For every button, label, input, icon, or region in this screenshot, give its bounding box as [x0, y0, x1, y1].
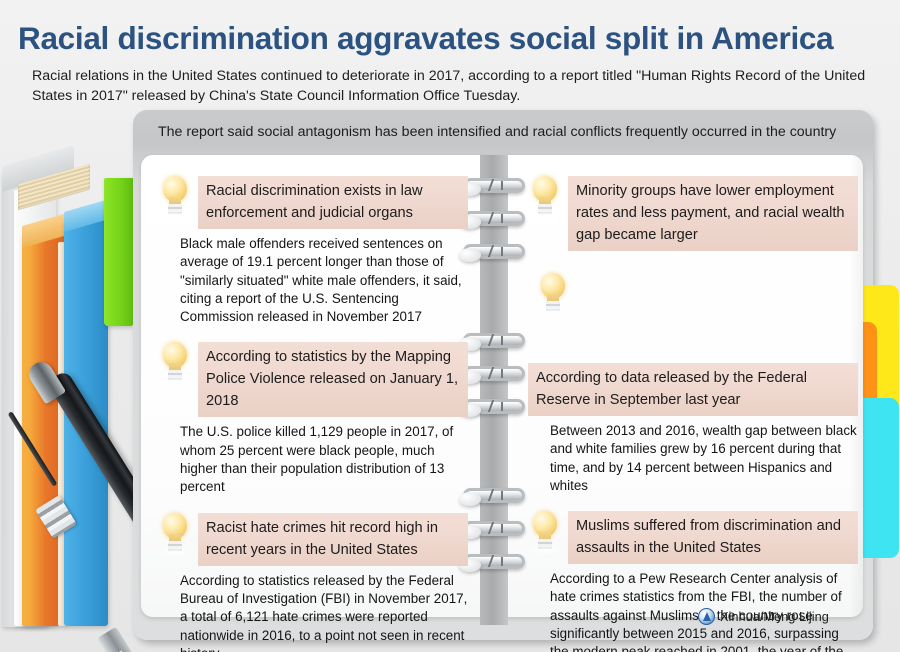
- page-title: Racial discrimination aggravates social …: [18, 20, 888, 57]
- lightbulb-icon: [158, 513, 192, 557]
- list-item: According to statistics by the Mapping P…: [158, 342, 468, 496]
- spiral-ring: [463, 244, 525, 259]
- spiral-ring: [463, 333, 525, 348]
- item-heading: Muslims suffered from discrimination and…: [568, 511, 858, 564]
- item-heading: Racist hate crimes hit record high in re…: [198, 513, 468, 566]
- lightbulb-icon: [158, 176, 192, 220]
- list-item: Minority groups have lower employment ra…: [528, 176, 858, 251]
- list-item: Racial discrimination exists in law enfo…: [158, 176, 468, 326]
- credit-text: Xinhua/Meng Lijing: [720, 609, 829, 624]
- spiral-ring: [463, 521, 525, 536]
- lightbulb-icon: [528, 511, 562, 555]
- list-item: Muslims suffered from discrimination and…: [528, 511, 858, 652]
- spiral-ring: [463, 554, 525, 569]
- lightbulb-icon: [536, 273, 570, 317]
- item-heading: Racial discrimination exists in law enfo…: [198, 176, 468, 229]
- spiral-ring: [463, 178, 525, 193]
- xinhua-logo-icon: [698, 608, 715, 625]
- book-green: [104, 178, 134, 326]
- right-column: Minority groups have lower employment ra…: [528, 176, 858, 652]
- pen-ring: [35, 495, 77, 539]
- spiral-ring: [463, 488, 525, 503]
- item-body: Between 2013 and 2016, wealth gap betwee…: [550, 422, 858, 495]
- list-item: Racist hate crimes hit record high in re…: [158, 513, 468, 652]
- item-heading: According to statistics by the Mapping P…: [198, 342, 468, 417]
- list-item: According to data released by the Federa…: [528, 273, 858, 495]
- item-heading: Minority groups have lower employment ra…: [568, 176, 858, 251]
- lightbulb-icon: [528, 176, 562, 220]
- spiral-ring: [463, 366, 525, 381]
- pen-grip: [97, 627, 133, 652]
- infographic-page: Racial discrimination aggravates social …: [0, 0, 900, 652]
- item-body: According to statistics released by the …: [180, 572, 468, 652]
- pen-clip: [8, 411, 58, 487]
- notebook-intro-text: The report said social antagonism has be…: [158, 122, 858, 143]
- lightbulb-icon: [158, 342, 192, 386]
- page-subtitle: Racial relations in the United States co…: [32, 66, 872, 106]
- item-heading: According to data released by the Federa…: [528, 363, 858, 416]
- left-column: Racial discrimination exists in law enfo…: [158, 176, 468, 652]
- spiral-ring: [463, 211, 525, 226]
- credit: Xinhua/Meng Lijing: [698, 608, 829, 625]
- spiral-ring: [463, 399, 525, 414]
- item-body: The U.S. police killed 1,129 people in 2…: [180, 423, 468, 496]
- item-body: Black male offenders received sentences …: [180, 235, 468, 326]
